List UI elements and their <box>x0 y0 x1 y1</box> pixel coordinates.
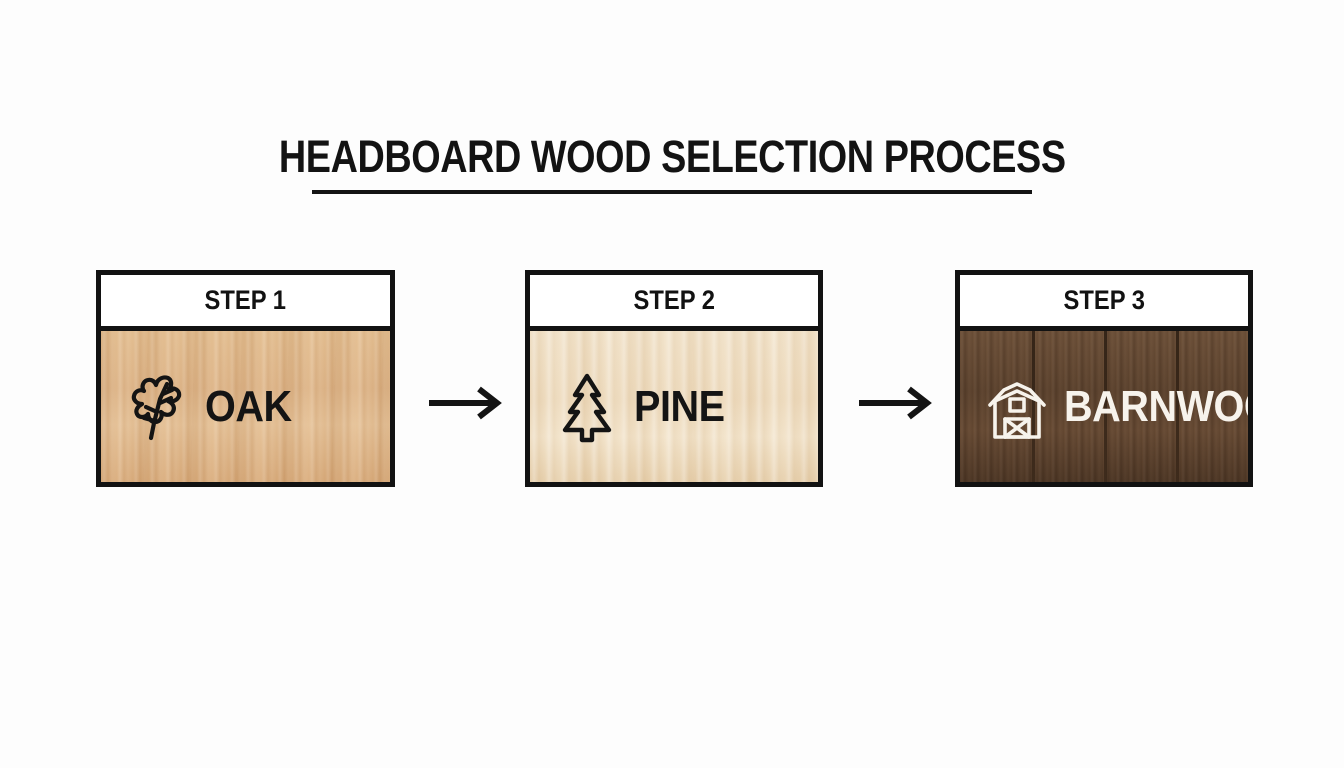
step-card-oak-step-label: STEP 1 <box>205 287 286 314</box>
step-card-pine-header: STEP 2 <box>530 275 818 331</box>
title-underline <box>312 190 1032 194</box>
arrow-right-icon <box>857 386 935 420</box>
step-card-pine-body: PINE <box>530 331 818 482</box>
oak-leaf-icon <box>127 371 189 443</box>
step-card-barnwood-step-label: STEP 3 <box>1063 287 1144 314</box>
step-card-pine[interactable]: STEP 2 PINE <box>525 270 823 487</box>
barn-icon <box>986 371 1048 443</box>
page-title-text: HEADBOARD WOOD SELECTION PROCESS <box>279 134 1066 179</box>
step-card-barnwood[interactable]: STEP 3 BARNWOOD <box>955 270 1253 487</box>
page-title: HEADBOARD WOOD SELECTION PROCESS <box>0 134 1344 179</box>
step-card-barnwood-label: BARNWOOD <box>1064 385 1248 429</box>
step-card-barnwood-body: BARNWOOD <box>960 331 1248 482</box>
step-card-oak-body: OAK <box>101 331 390 482</box>
diagram-canvas: HEADBOARD WOOD SELECTION PROCESS STEP 1 <box>0 0 1344 768</box>
pine-tree-icon <box>556 371 618 443</box>
step-card-oak-label: OAK <box>205 385 292 429</box>
step-card-oak-header: STEP 1 <box>101 275 390 331</box>
arrow-right-icon <box>427 386 505 420</box>
step-card-pine-step-label: STEP 2 <box>633 287 714 314</box>
step-card-barnwood-header: STEP 3 <box>960 275 1248 331</box>
step-card-oak[interactable]: STEP 1 OAK <box>96 270 395 487</box>
step-card-pine-label: PINE <box>634 385 725 429</box>
